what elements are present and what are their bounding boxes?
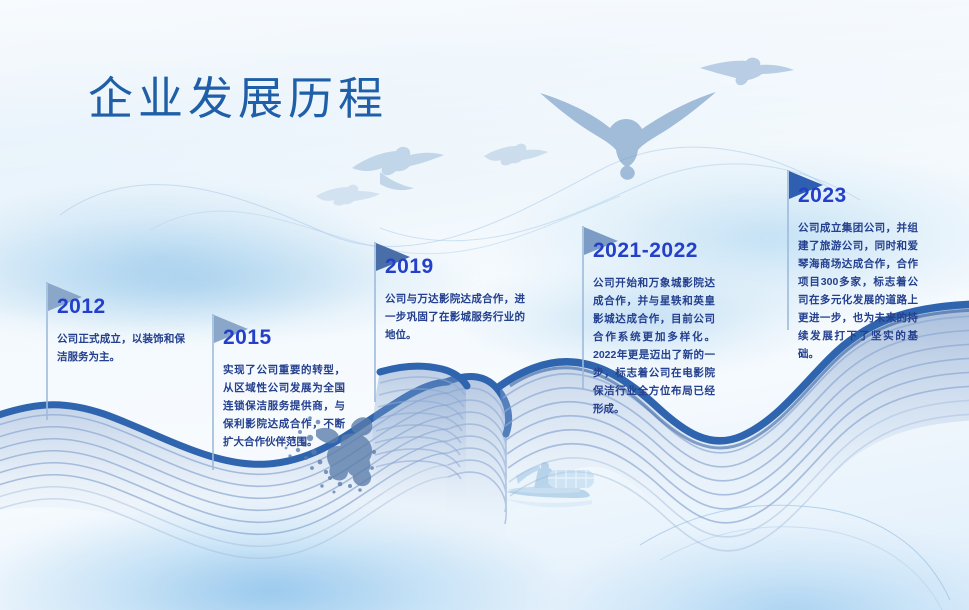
page-title: 企业发展历程 [88,62,388,127]
milestone-desc-2021-2022: 公司开始和万象城影院达成合作，并与星轶和英皇影城达成合作，目前公司合作系统更加多… [593,274,715,418]
bird-small-center [484,144,548,166]
bird-upper-right [700,58,794,86]
milestone-2012[interactable]: 2012 公司正式成立，以装饰和保洁服务为主。 [57,296,185,366]
milestone-2015[interactable]: 2015 实现了公司重要的转型，从区域性公司发展为全国连锁保洁服务提供商，与保利… [223,327,345,451]
milestone-desc-2012: 公司正式成立，以装饰和保洁服务为主。 [57,330,185,366]
milestone-year-2021-2022: 2021-2022 [593,240,715,261]
milestone-desc-2015: 实现了公司重要的转型，从区域性公司发展为全国连锁保洁服务提供商，与保利影院达成合… [223,361,345,451]
fisherman-boat-silhouette [504,462,594,507]
bird-large-center [540,92,716,180]
milestone-2021-2022[interactable]: 2021-2022 公司开始和万象城影院达成合作，并与星轶和英皇影城达成合作，目… [593,240,715,418]
ribbon-upper-loop-edge [380,366,467,386]
milestone-year-2012: 2012 [57,296,185,317]
mountain-wash-bottom-right [469,480,969,610]
milestone-desc-2019: 公司与万达影院达成合作，进一步巩固了在影城服务行业的地位。 [385,290,525,344]
milestone-year-2019: 2019 [385,256,525,277]
milestone-2019[interactable]: 2019 公司与万达影院达成合作，进一步巩固了在影城服务行业的地位。 [385,256,525,344]
poster-canvas: 企业发展历程 2012 公司正式成立，以装饰和保洁服务为主。 2015 实现了公… [0,0,969,610]
bird-small-left [316,185,380,206]
milestone-2023[interactable]: 2023 公司成立集团公司，并组建了旅游公司，同时和爱琴海商场达成合作，合作项目… [798,185,918,363]
milestone-desc-2023: 公司成立集团公司，并组建了旅游公司，同时和爱琴海商场达成合作，合作项目300多家… [798,219,918,363]
mountain-wash-bottom-left [0,450,680,610]
milestone-year-2015: 2015 [223,327,345,348]
ribbon-fold-edge [446,376,509,434]
bird-mid-left [352,147,444,190]
ribbon-fold-body [446,376,508,563]
ribbon-upper-loop [372,366,466,520]
milestone-year-2023: 2023 [798,185,918,206]
